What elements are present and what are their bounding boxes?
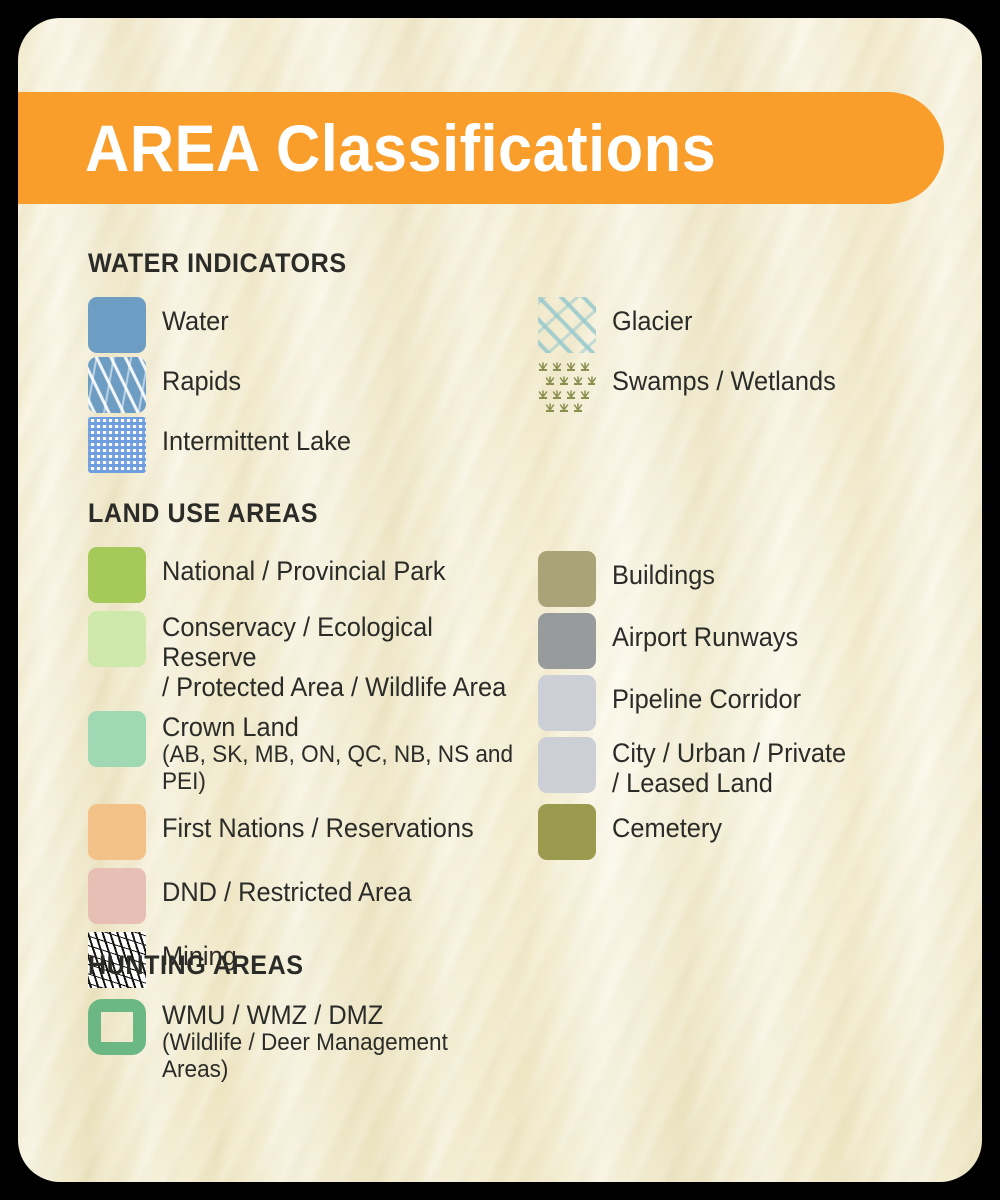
legend-label-crown-land-group: Crown Land (AB, SK, MB, ON, QC, NB, NS a… bbox=[162, 711, 538, 796]
swatch-crown-land bbox=[88, 711, 146, 767]
legend-card: AREA Classifications WATER INDICATORS Wa… bbox=[18, 18, 982, 1182]
hunting-left-column: WMU / WMZ / DMZ (Wildlife / Deer Managem… bbox=[88, 999, 538, 1084]
legend-sublabel-wmu-wmz-dmz: (Wildlife / Deer Management Areas) bbox=[162, 1030, 515, 1084]
legend-item-rapids[interactable]: Rapids bbox=[88, 357, 538, 413]
legend-item-swamps-wetlands[interactable]: Swamps / Wetlands bbox=[538, 357, 958, 413]
legend-sublabel-crown-land: (AB, SK, MB, ON, QC, NB, NS and PEI) bbox=[162, 742, 515, 796]
legend-item-intermittent-lake[interactable]: Intermittent Lake bbox=[88, 417, 538, 473]
swatch-wmu-wmz-dmz bbox=[88, 999, 146, 1055]
legend-item-water[interactable]: Water bbox=[88, 297, 538, 353]
water-left-column: Water Rapids Intermittent Lake bbox=[88, 297, 538, 475]
legend-label-national-provincial-park: National / Provincial Park bbox=[162, 547, 446, 586]
legend-label-rapids: Rapids bbox=[162, 357, 241, 396]
swatch-conservacy bbox=[88, 611, 146, 667]
swatch-buildings bbox=[538, 551, 596, 607]
section-land-use-areas: LAND USE AREAS National / Provincial Par… bbox=[88, 498, 968, 988]
swatch-glacier bbox=[538, 297, 596, 353]
legend-label-wmu-group: WMU / WMZ / DMZ (Wildlife / Deer Managem… bbox=[162, 999, 538, 1084]
legend-label-buildings: Buildings bbox=[612, 551, 715, 590]
swatch-intermittent-lake bbox=[88, 417, 146, 473]
legend-item-first-nations[interactable]: First Nations / Reservations bbox=[88, 804, 538, 860]
legend-label-crown-land: Crown Land bbox=[162, 711, 515, 742]
swatch-national-provincial-park bbox=[88, 547, 146, 603]
legend-label-cemetery: Cemetery bbox=[612, 804, 722, 843]
legend-item-glacier[interactable]: Glacier bbox=[538, 297, 958, 353]
swatch-pipeline-corridor bbox=[538, 675, 596, 731]
legend-label-glacier: Glacier bbox=[612, 297, 692, 336]
swatch-airport-runways bbox=[538, 613, 596, 669]
legend-item-national-provincial-park[interactable]: National / Provincial Park bbox=[88, 547, 538, 603]
land-use-right-column: Buildings Airport Runways Pipeline Corri… bbox=[538, 547, 958, 988]
legend-item-dnd-restricted[interactable]: DND / Restricted Area bbox=[88, 868, 538, 924]
water-right-column: Glacier bbox=[538, 297, 958, 475]
hunting-right-column bbox=[538, 999, 958, 1084]
land-use-left-column: National / Provincial Park Conservacy / … bbox=[88, 547, 538, 988]
legend-label-swamps-wetlands: Swamps / Wetlands bbox=[612, 357, 836, 396]
swatch-water bbox=[88, 297, 146, 353]
page-title: AREA Classifications bbox=[18, 110, 716, 186]
legend-label-intermittent-lake: Intermittent Lake bbox=[162, 417, 351, 456]
legend-label-first-nations: First Nations / Reservations bbox=[162, 804, 474, 843]
swatch-dnd-restricted bbox=[88, 868, 146, 924]
legend-label-pipeline-corridor: Pipeline Corridor bbox=[612, 675, 801, 714]
swatch-city-urban-private bbox=[538, 737, 596, 793]
swatch-rapids bbox=[88, 357, 146, 413]
legend-label-wmu-wmz-dmz: WMU / WMZ / DMZ bbox=[162, 999, 515, 1030]
legend-item-wmu-wmz-dmz[interactable]: WMU / WMZ / DMZ (Wildlife / Deer Managem… bbox=[88, 999, 538, 1084]
legend-label-city-urban-private: City / Urban / Private / Leased Land bbox=[612, 737, 846, 798]
swatch-swamps-wetlands bbox=[538, 357, 596, 413]
section-title-land-use-areas: LAND USE AREAS bbox=[88, 498, 906, 529]
swatch-cemetery bbox=[538, 804, 596, 860]
section-hunting-areas: HUNTING AREAS WMU / WMZ / DMZ (Wildlife … bbox=[88, 950, 968, 1084]
title-banner: AREA Classifications bbox=[18, 92, 944, 204]
legend-item-buildings[interactable]: Buildings bbox=[538, 551, 958, 607]
section-title-hunting-areas: HUNTING AREAS bbox=[88, 950, 906, 981]
section-title-water-indicators: WATER INDICATORS bbox=[88, 248, 906, 279]
legend-label-conservacy: Conservacy / Ecological Reserve / Protec… bbox=[162, 611, 515, 703]
legend-item-city-urban-private[interactable]: City / Urban / Private / Leased Land bbox=[538, 737, 958, 798]
swatch-first-nations bbox=[88, 804, 146, 860]
legend-item-crown-land[interactable]: Crown Land (AB, SK, MB, ON, QC, NB, NS a… bbox=[88, 711, 538, 796]
legend-label-airport-runways: Airport Runways bbox=[612, 613, 798, 652]
legend-label-water: Water bbox=[162, 297, 229, 336]
legend-item-conservacy[interactable]: Conservacy / Ecological Reserve / Protec… bbox=[88, 611, 538, 703]
legend-item-cemetery[interactable]: Cemetery bbox=[538, 804, 958, 860]
legend-item-airport-runways[interactable]: Airport Runways bbox=[538, 613, 958, 669]
section-water-indicators: WATER INDICATORS Water Rapids Intermitte… bbox=[88, 248, 968, 475]
legend-label-dnd-restricted: DND / Restricted Area bbox=[162, 868, 412, 907]
legend-item-pipeline-corridor[interactable]: Pipeline Corridor bbox=[538, 675, 958, 731]
